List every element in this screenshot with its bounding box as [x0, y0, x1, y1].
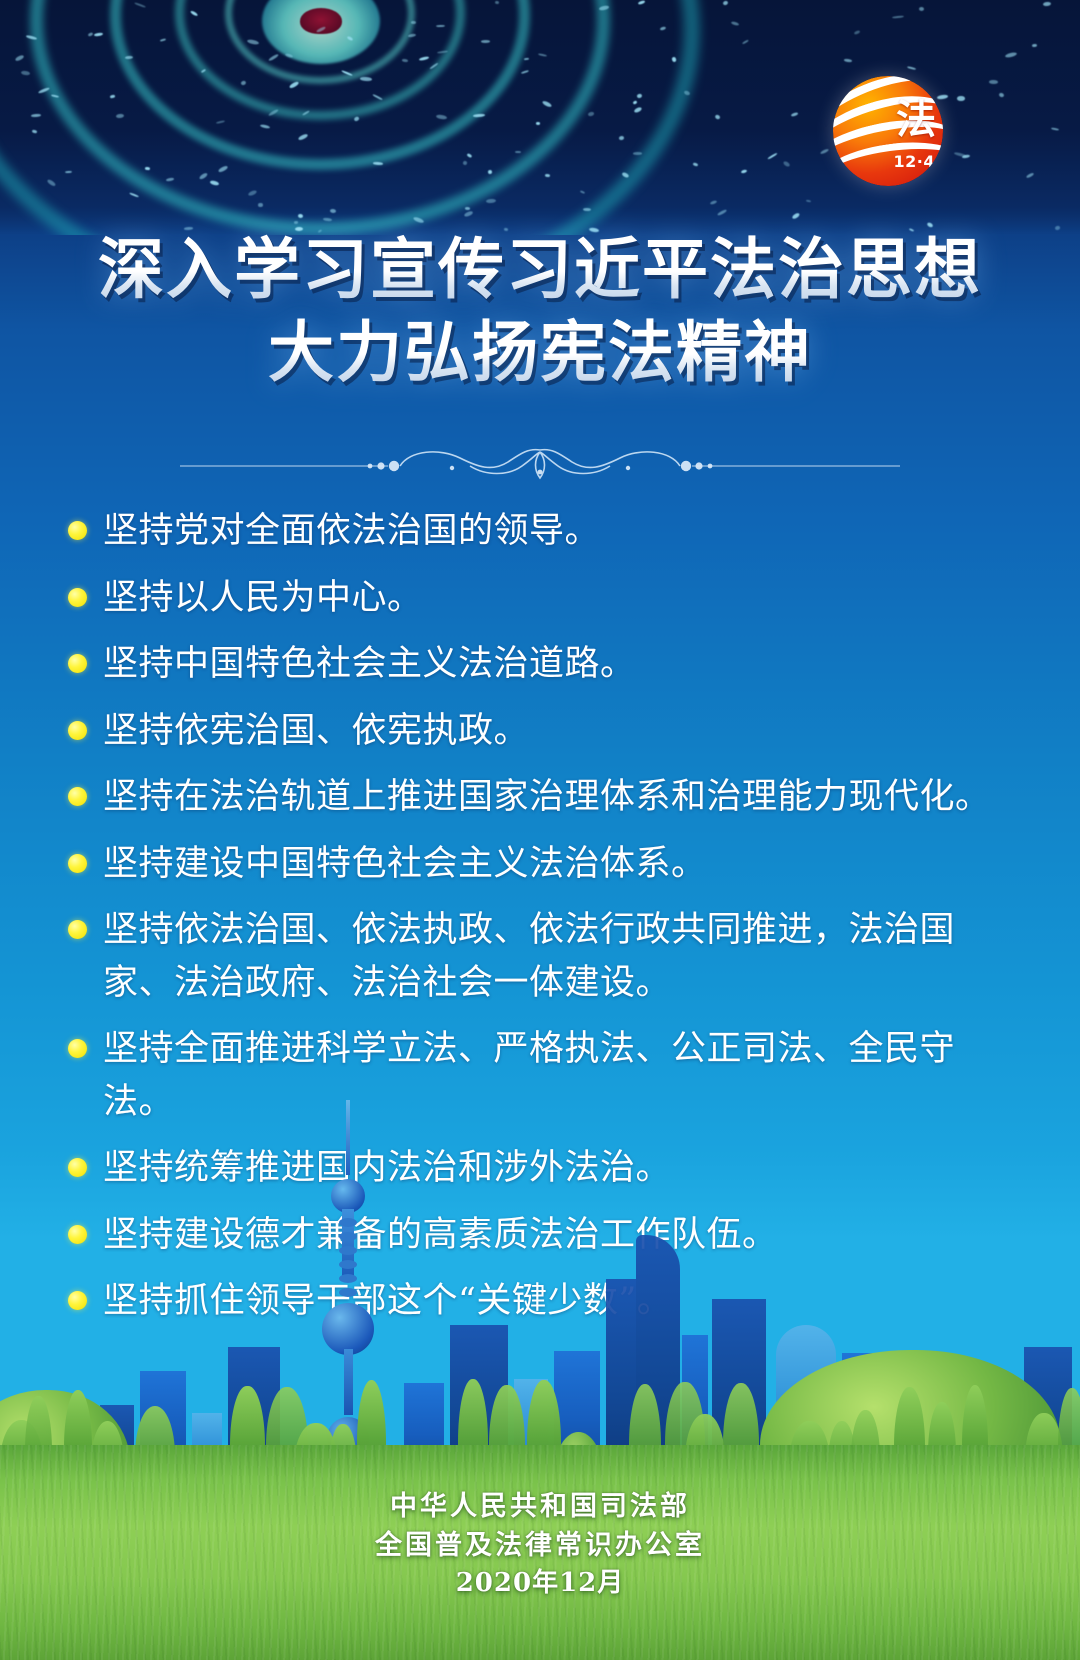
principle-item: 坚持在法治轨道上推进国家治理体系和治理能力现代化。	[68, 771, 1018, 824]
ceiling-light-dot	[160, 38, 166, 42]
principle-text: 坚持在法治轨道上推进国家治理体系和治理能力现代化。	[103, 771, 991, 824]
ceiling-light-dot	[88, 32, 93, 37]
page-title: 深入学习宣传习近平法治思想 大力弘扬宪法精神	[0, 228, 1080, 394]
ceiling-light-dot	[341, 70, 352, 76]
footer-office: 全国普及法律常识办公室	[0, 1527, 1080, 1565]
ceiling-light-dot	[684, 90, 691, 96]
ceiling-light-dot	[1005, 51, 1017, 58]
ceiling-light-dot	[536, 122, 541, 125]
ceiling-light-dot	[217, 165, 228, 173]
tower-main-sphere	[322, 1303, 374, 1355]
ceiling-light-dot	[486, 198, 496, 203]
ceiling-light-dot	[247, 39, 259, 46]
bullet-dot-icon	[68, 854, 87, 873]
title-line-1: 深入学习宣传习近平法治思想	[0, 228, 1080, 311]
ceiling-light-dot	[634, 106, 643, 113]
ceiling-light-dot	[316, 26, 326, 33]
ceiling-light-dot	[94, 32, 103, 36]
ceiling-light-dot	[248, 189, 258, 197]
ceiling-light-dot	[926, 221, 933, 228]
ceiling-light-dot	[268, 108, 279, 117]
ceiling-light-dot	[473, 114, 485, 118]
ceiling-light-dot	[515, 151, 521, 154]
ceiling-light-dot	[346, 35, 353, 41]
ceiling-light-dot	[892, 15, 904, 18]
ceiling-light-dot	[495, 1, 499, 5]
ceiling-light-dot	[298, 133, 309, 141]
ceiling-light-dot	[1026, 172, 1034, 178]
ceiling-light-dot	[65, 170, 72, 172]
footer-date: 2020年12月	[0, 1565, 1080, 1602]
ceiling-light-dot	[742, 39, 749, 44]
ceiling-light-dot	[145, 166, 150, 169]
ceiling-light-dot	[294, 221, 298, 224]
ceiling-light-dot	[998, 92, 1004, 98]
emblem-fa-character: 法	[896, 100, 936, 140]
ceiling-light-dot	[430, 63, 439, 71]
ceiling-light-dot	[919, 7, 924, 11]
ceiling-light-dot	[372, 94, 383, 101]
ceiling-light-dot	[285, 53, 293, 58]
ceiling-light-dot	[693, 162, 699, 166]
ceiling-light-dot	[844, 58, 852, 62]
ceiling-light-dot	[791, 112, 798, 117]
ceiling-light-dot	[129, 193, 140, 199]
ceiling-light-dot	[289, 80, 299, 88]
constitution-law-promotion-poster: 法 12·4 深入学习宣传习近平法治思想 大力弘扬宪法精神	[0, 0, 1080, 1660]
ceiling-light-dot	[618, 135, 624, 140]
ceiling-light-dot	[710, 200, 717, 205]
ceiling-light-dot	[412, 216, 424, 224]
ceiling-light-dot	[463, 161, 468, 166]
ceiling-light-dot	[722, 0, 728, 6]
ceiling-light-dot	[467, 153, 472, 158]
ceiling-light-dot	[1032, 43, 1037, 47]
tower-bead	[339, 1246, 357, 1255]
footer-organization: 中华人民共和国司法部	[0, 1488, 1080, 1526]
ceiling-light-dot	[783, 161, 791, 169]
ceiling-light-dot	[714, 114, 720, 120]
tower-upper-sphere	[331, 1179, 365, 1213]
principle-item: 坚持党对全面依法治国的领导。	[68, 505, 1018, 558]
ceiling-light-dot	[110, 94, 115, 98]
bullet-dot-icon	[68, 588, 87, 607]
ceiling-light-dot	[297, 214, 302, 219]
ceiling-light-dot	[51, 94, 59, 98]
emblem-date-label: 12·4	[894, 152, 935, 171]
ceiling-light-dot	[672, 57, 677, 63]
bullet-dot-icon	[68, 920, 87, 939]
ceiling-light-dot	[190, 10, 199, 17]
tower-bead	[339, 1274, 357, 1283]
ceiling-light-dot	[989, 80, 999, 84]
ceiling-light-dot	[464, 207, 469, 210]
ceiling-light-dot	[31, 114, 41, 118]
ceiling-light-dot	[436, 25, 445, 27]
ceiling-light-dot	[487, 170, 492, 175]
ceiling-light-dot	[659, 27, 666, 32]
ceiling-light-dot	[134, 2, 146, 8]
ceiling-light-dot	[819, 148, 828, 155]
tower-bead	[339, 1232, 357, 1241]
ceiling-light-dot	[633, 152, 642, 155]
ceiling-light-dot	[437, 51, 448, 55]
ceiling-light-dot	[1043, 1, 1051, 6]
ceiling-light-dot	[792, 213, 801, 221]
ceiling-light-dot	[419, 56, 430, 61]
ceiling-light-dot	[209, 180, 219, 186]
ceiling-light-dot	[542, 100, 553, 108]
ceiling-light-dot	[523, 57, 528, 60]
ceiling-light-dot	[323, 218, 332, 222]
tower-bead	[339, 1260, 357, 1269]
ceiling-light-dot	[402, 59, 408, 62]
ceiling-light-dot	[588, 111, 595, 116]
ceiling-light-dot	[258, 203, 263, 208]
ceiling-light-dot	[730, 21, 738, 26]
principle-item: 坚持依法治国、依法执政、依法行政共同推进，法治国家、法治政府、法治社会一体建设。	[68, 904, 1018, 1009]
ceiling-light-dot	[717, 209, 727, 216]
principle-item: 坚持以人民为中心。	[68, 572, 1018, 625]
ceiling-light-dot	[166, 177, 175, 181]
decorative-divider	[0, 432, 1080, 484]
principle-text: 坚持党对全面依法治国的领导。	[103, 505, 600, 558]
principle-text: 坚持依宪治国、依宪执政。	[103, 705, 529, 758]
ceiling-light-dot	[125, 56, 133, 60]
constitution-day-emblem: 法 12·4	[833, 76, 943, 186]
principle-item: 坚持依宪治国、依宪执政。	[68, 705, 1018, 758]
title-line-2: 大力弘扬宪法精神	[0, 311, 1080, 394]
ceiling-light-dot	[260, 124, 271, 129]
ceiling-light-dot	[953, 152, 965, 158]
bullet-dot-icon	[68, 521, 87, 540]
ceiling-light-dot	[330, 208, 336, 213]
ceiling-light-dot	[583, 208, 591, 211]
principle-text: 坚持中国特色社会主义法治道路。	[103, 638, 636, 691]
ceiling-light-dot	[768, 152, 779, 160]
principle-text: 坚持以人民为中心。	[103, 572, 423, 625]
ceiling-light-dot	[21, 71, 30, 77]
ceiling-light-dot	[1050, 127, 1058, 131]
principle-text: 坚持依法治国、依法执政、依法行政共同推进，法治国家、法治政府、法治社会一体建设。	[103, 904, 1018, 1009]
bullet-dot-icon	[68, 654, 87, 673]
ceiling-light-dot	[521, 70, 529, 75]
ceiling-light-dot	[26, 34, 37, 39]
ceiling-light-dot	[302, 110, 310, 116]
ceiling-light-dot	[957, 96, 965, 101]
ceiling-light-dot	[201, 69, 206, 73]
poster-footer: 中华人民共和国司法部 全国普及法律常识办公室 2020年12月	[0, 1488, 1080, 1602]
ceiling-light-dot	[806, 199, 811, 202]
ceiling-light-dot	[580, 190, 585, 194]
ceiling-light-dot	[373, 161, 383, 164]
ceiling-light-dot	[481, 40, 490, 43]
bullet-dot-icon	[68, 787, 87, 806]
ceiling-light-dot	[411, 21, 416, 24]
ceiling-light-dot	[538, 53, 548, 57]
ceiling-light-dot	[268, 53, 279, 61]
ceiling-light-dot	[436, 114, 447, 120]
ceiling-light-dot	[360, 77, 372, 81]
bullet-dot-icon	[68, 721, 87, 740]
bullet-dot-icon	[68, 1039, 87, 1058]
ceiling-light-dot	[853, 30, 859, 35]
tower-bead	[339, 1288, 357, 1297]
tower-mast	[346, 1100, 350, 1175]
ceiling-light-dot	[636, 94, 642, 99]
ceiling-light-dot	[240, 80, 246, 86]
ceiling-light-dot	[621, 172, 629, 179]
ceiling-light-dot	[599, 5, 610, 11]
ceiling-light-dot	[115, 114, 123, 119]
ceiling-light-dot	[354, 116, 360, 121]
ceiling-light-dot	[545, 174, 550, 177]
ceiling-light-dot	[46, 179, 56, 187]
ceiling-light-dot	[216, 120, 226, 124]
ceiling-light-dot	[463, 210, 472, 217]
ceiling-light-dot	[14, 55, 24, 63]
principle-text: 坚持建设中国特色社会主义法治体系。	[103, 838, 707, 891]
tower-bead	[339, 1218, 357, 1227]
ceiling-light-dot	[632, 101, 637, 106]
ceiling-light-dot	[38, 87, 50, 94]
principle-item: 坚持建设中国特色社会主义法治体系。	[68, 838, 1018, 891]
ceiling-light-dot	[638, 0, 646, 5]
principle-item: 坚持中国特色社会主义法治道路。	[68, 638, 1018, 691]
ceiling-light-dot	[907, 66, 916, 71]
ceiling-light-dot	[31, 129, 36, 133]
ceiling-light-dot	[740, 169, 746, 174]
ceiling-light-dot	[199, 171, 209, 180]
ceiling-light-dot	[408, 34, 416, 38]
